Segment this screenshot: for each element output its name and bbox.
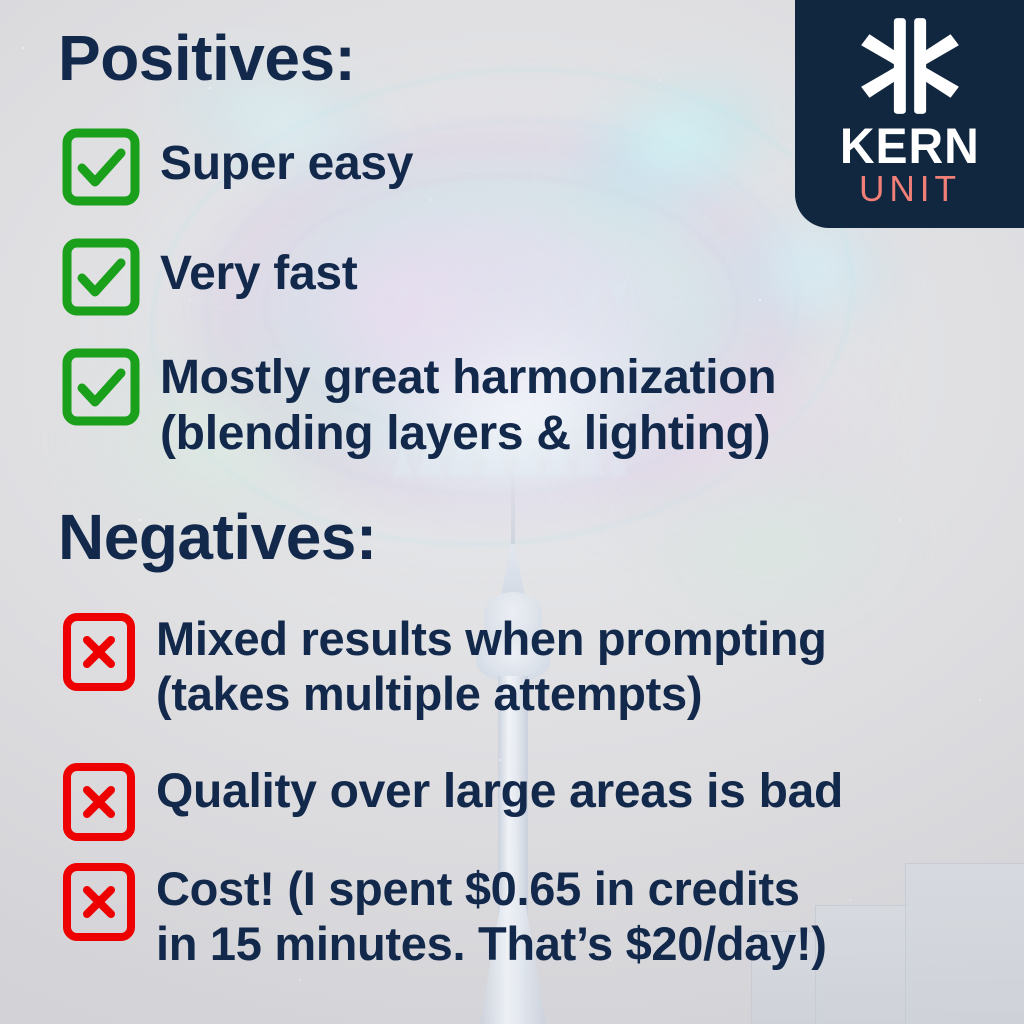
checkbox-checked-icon bbox=[62, 128, 140, 206]
page-heading-positives: Positives: bbox=[58, 26, 355, 90]
list-item: Mostly great harmonization (blending lay… bbox=[62, 348, 776, 461]
page-heading-negatives: Negatives: bbox=[58, 505, 377, 569]
list-item-label: Mostly great harmonization (blending lay… bbox=[160, 348, 776, 461]
list-item-label: Very fast bbox=[160, 238, 357, 302]
list-item: Mixed results when prompting (takes mult… bbox=[62, 612, 827, 721]
list-item: Super easy bbox=[62, 128, 413, 206]
content-area: Positives: Super easy Very fast bbox=[0, 0, 1024, 1024]
checkbox-x-icon bbox=[62, 612, 136, 692]
list-item: Cost! (I spent $0.65 in credits in 15 mi… bbox=[62, 862, 827, 971]
checkbox-checked-icon bbox=[62, 348, 140, 426]
checkbox-x-icon bbox=[62, 762, 136, 842]
list-item: Very fast bbox=[62, 238, 357, 316]
list-item: Quality over large areas is bad bbox=[62, 762, 843, 842]
checkbox-x-icon bbox=[62, 862, 136, 942]
slide-canvas: KERN UNIT Positives: Super easy Very fas… bbox=[0, 0, 1024, 1024]
list-item-label: Super easy bbox=[160, 128, 413, 192]
list-item-label: Quality over large areas is bad bbox=[156, 762, 843, 820]
list-item-label: Cost! (I spent $0.65 in credits in 15 mi… bbox=[156, 862, 827, 971]
list-item-label: Mixed results when prompting (takes mult… bbox=[156, 612, 827, 721]
checkbox-checked-icon bbox=[62, 238, 140, 316]
